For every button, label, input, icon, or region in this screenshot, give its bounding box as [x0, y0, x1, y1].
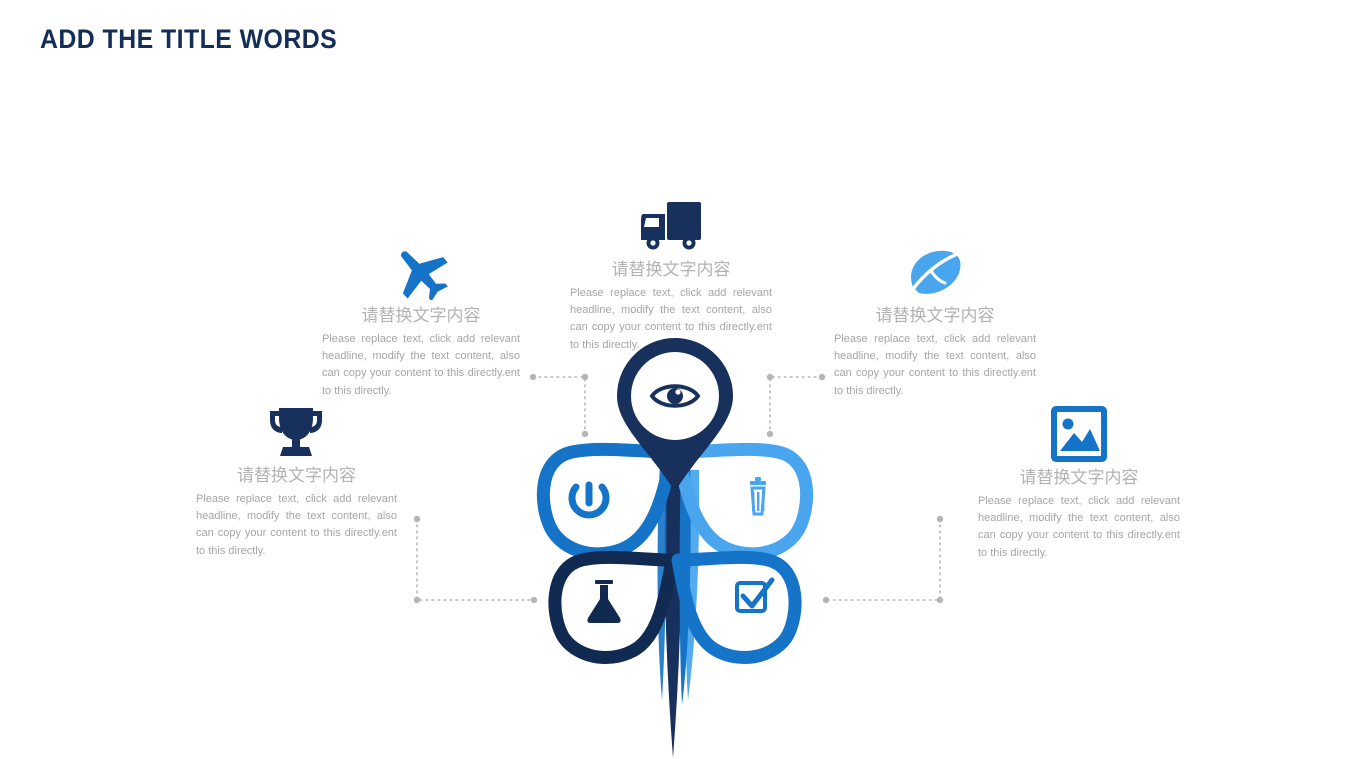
callout-trophy[interactable]: 请替换文字内容 Please replace text, click add r…: [196, 404, 397, 560]
trash-icon: [750, 477, 766, 514]
callout-picture[interactable]: 请替换文字内容 Please replace text, click add r…: [978, 406, 1180, 562]
callout-body: Please replace text, click add relevant …: [834, 331, 1036, 399]
callout-truck[interactable]: 请替换文字内容 Please replace text, click add r…: [570, 196, 772, 354]
callout-heading: 请替换文字内容: [570, 260, 772, 280]
pin-eye[interactable]: [617, 338, 733, 492]
central-tree-diagram: [0, 0, 1350, 759]
callout-heading: 请替换文字内容: [196, 466, 397, 486]
callout-body: Please replace text, click add relevant …: [978, 493, 1180, 561]
power-icon: [572, 485, 606, 515]
petal-flask[interactable]: [555, 557, 672, 657]
callout-heading: 请替换文字内容: [322, 306, 520, 326]
leaf-icon: [834, 246, 1036, 300]
callout-leaf[interactable]: 请替换文字内容 Please replace text, click add r…: [834, 246, 1036, 400]
callout-body: Please replace text, click add relevant …: [196, 491, 397, 559]
trophy-icon: [196, 404, 397, 460]
petal-power[interactable]: [543, 449, 672, 553]
flask-icon: [587, 580, 620, 623]
truck-icon: [570, 196, 772, 254]
airplane-icon: [322, 246, 520, 300]
callout-heading: 请替换文字内容: [978, 468, 1180, 488]
picture-icon: [978, 406, 1180, 462]
callout-heading: 请替换文字内容: [834, 306, 1036, 326]
checkbox-icon: [737, 580, 772, 611]
callout-body: Please replace text, click add relevant …: [570, 285, 772, 353]
callout-plane[interactable]: 请替换文字内容 Please replace text, click add r…: [322, 246, 520, 400]
callout-body: Please replace text, click add relevant …: [322, 331, 520, 399]
